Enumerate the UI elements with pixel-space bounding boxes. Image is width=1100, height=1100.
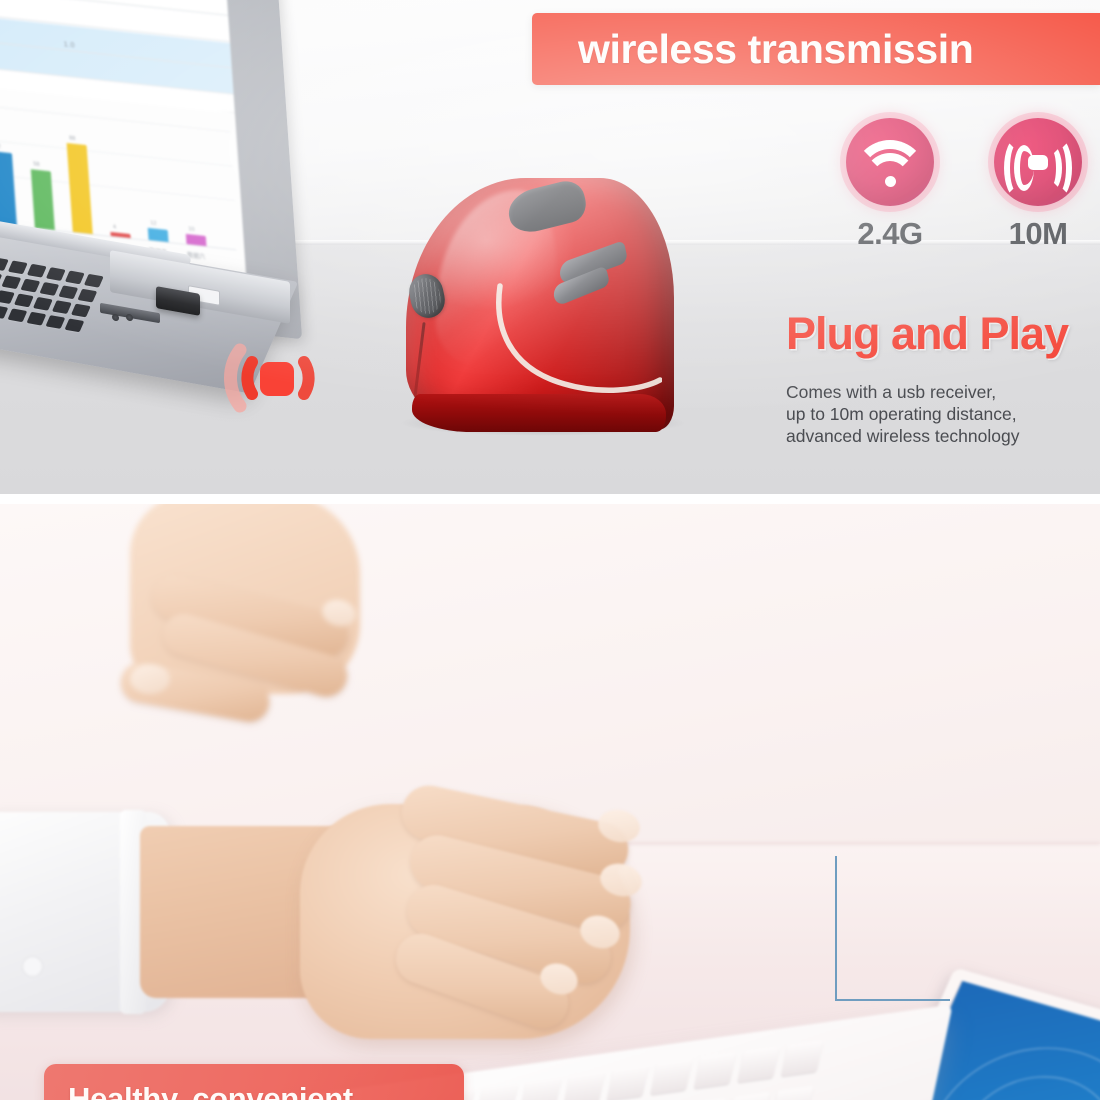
banner-healthy-text: Healthy, convenient, natural and comfort…	[44, 1080, 414, 1100]
keyboard-key	[728, 1092, 770, 1100]
keyboard-key	[26, 312, 46, 326]
keyboard-key	[39, 282, 59, 296]
top-panel: 数据 数据名称 1/1 1.0 1872数据一58数据二88数据三4数据四12数…	[0, 0, 1100, 494]
keyboard-key	[650, 1059, 692, 1095]
keyboard-key	[0, 257, 9, 271]
chart-bar	[148, 228, 169, 242]
keyboard-key	[65, 271, 85, 285]
badge-2-4g: 2.4G	[846, 118, 934, 249]
keyboard-key	[7, 308, 27, 322]
keyboard-key	[14, 294, 34, 308]
spec-badges: 2.4G 10M	[846, 118, 1082, 268]
keyboard-key	[1, 275, 21, 289]
chart-bar-value: 4	[113, 224, 116, 230]
keyboard-key	[46, 267, 66, 281]
keyboard-key	[77, 289, 97, 303]
chart-bar-value: 10	[188, 226, 195, 233]
keyboard-key	[8, 260, 28, 274]
keyboard-key	[27, 264, 47, 278]
keyboard-key	[737, 1046, 779, 1082]
bottom-panel: Healthy, convenient, natural and comfort…	[0, 504, 1100, 1100]
badge-10m: 10M	[994, 118, 1082, 249]
chart-bar	[186, 234, 207, 246]
mouse-base	[412, 394, 666, 432]
spreadsheet-cell-2: 1.0	[64, 41, 76, 49]
chart-bar-value: 88	[69, 135, 76, 142]
keyboard-key	[563, 1071, 605, 1100]
keyboard-key	[64, 318, 84, 332]
product-infographic: 数据 数据名称 1/1 1.0 1872数据一58数据二88数据三4数据四12数…	[0, 0, 1100, 1100]
keyboard-key	[20, 279, 40, 293]
keyboard-key	[771, 1086, 813, 1100]
keyboard-key	[33, 297, 53, 311]
shirt-button	[22, 956, 43, 977]
keyboard-key	[0, 305, 8, 319]
keyboard-key	[71, 304, 91, 318]
badge-label-10m: 10M	[994, 218, 1082, 249]
feature-line-2: up to 10m operating distance,	[786, 403, 1086, 425]
feature-title-plug-and-play: Plug and Play	[786, 308, 1068, 360]
banner-healthy-line-1: Healthy, convenient,	[68, 1080, 414, 1100]
chart-bar	[31, 169, 55, 230]
mouse-accent-swoosh	[492, 280, 662, 398]
keyboard-key	[52, 300, 72, 314]
vertical-mouse-product-shot	[388, 172, 688, 452]
keyboard-key	[694, 1052, 736, 1088]
chart-bar	[0, 151, 17, 226]
keyboard-key	[476, 1083, 518, 1100]
keyboard-key	[84, 274, 104, 288]
keyboard-key	[45, 315, 65, 329]
badge-label-2-4g: 2.4G	[846, 218, 934, 249]
chart-bar-value: 12	[150, 220, 157, 227]
headline-banner-wireless-transmission: wireless transmissin	[532, 13, 1100, 85]
chart-bar	[67, 143, 93, 234]
chart-bar-value: 72	[0, 143, 1, 150]
banner-healthy-convenient: Healthy, convenient, natural and comfort…	[44, 1064, 464, 1100]
keyboard-key	[607, 1065, 649, 1100]
keyboard-key	[58, 285, 78, 299]
wireless-waves-svg	[200, 332, 330, 424]
feature-description: Comes with a usb receiver, up to 10m ope…	[786, 381, 1086, 447]
chart-bar-value: 58	[33, 162, 40, 169]
headline-banner-text: wireless transmissin	[532, 26, 973, 73]
feature-line-1: Comes with a usb receiver,	[786, 381, 1086, 403]
signal-broadcast-icon	[994, 118, 1082, 206]
wifi-icon	[846, 118, 934, 206]
wifi-dot	[885, 176, 896, 187]
wireless-signal-icon	[200, 332, 330, 424]
keyboard-key	[520, 1077, 562, 1100]
keyboard-key	[0, 290, 15, 304]
feature-line-3: advanced wireless technology	[786, 425, 1086, 447]
keyboard-key	[781, 1040, 823, 1076]
